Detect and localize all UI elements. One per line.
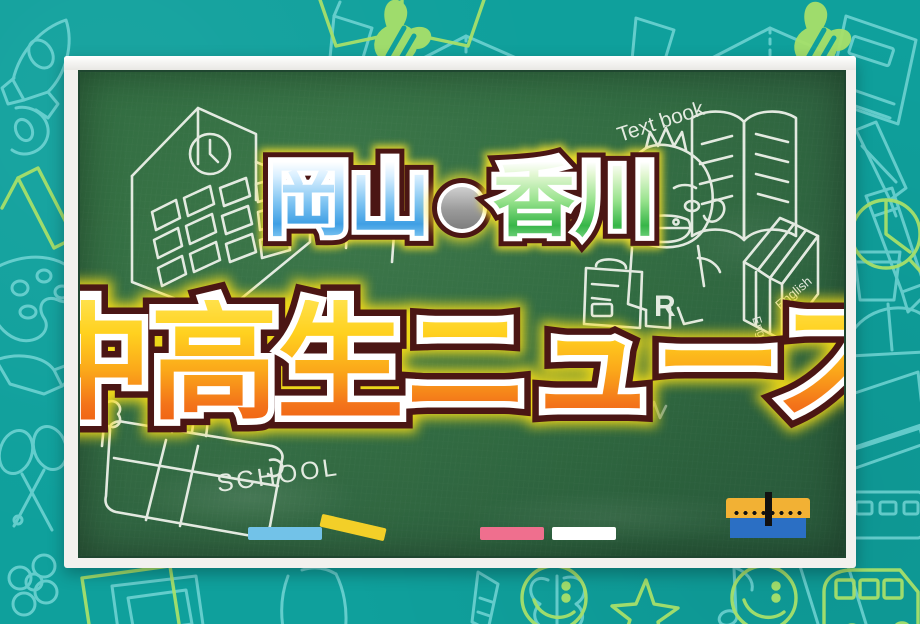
pink-chalk <box>480 527 544 540</box>
tree-drawing-1 <box>325 171 375 248</box>
ribbon-icon <box>472 572 498 624</box>
keyboard-icon <box>846 492 920 538</box>
school-bag-drawing <box>105 390 282 537</box>
chalkboard: Text book <box>78 70 846 558</box>
blackboard-eraser <box>726 498 810 538</box>
mascot-bag-letter-text: R <box>654 290 676 323</box>
white-chalk <box>552 527 616 540</box>
squiggle-drawing <box>636 402 666 418</box>
screenshot-root: Text book <box>0 0 920 624</box>
music-note-icon <box>717 568 752 624</box>
chalkboard-frame: Text book <box>64 56 856 568</box>
school-building-drawing <box>132 108 310 316</box>
tree-drawing-2 <box>373 204 414 262</box>
flower-icon <box>9 555 57 615</box>
mascot-drawing: R <box>584 128 724 328</box>
rocket-icon <box>2 20 69 118</box>
laptop-icon <box>846 372 920 470</box>
chalk-drawings-layer: Text book <box>80 72 844 556</box>
scissors-icon <box>0 422 72 530</box>
eraser-handle <box>765 492 772 526</box>
stacked-books-drawing: English English ABC <box>744 218 818 356</box>
smiley-icon-2 <box>732 566 796 624</box>
star-icon <box>612 580 678 624</box>
blue-chalk <box>248 527 322 540</box>
bus-icon <box>824 570 918 624</box>
picture-frame-icon <box>112 576 204 624</box>
balloon-icon <box>282 568 346 624</box>
